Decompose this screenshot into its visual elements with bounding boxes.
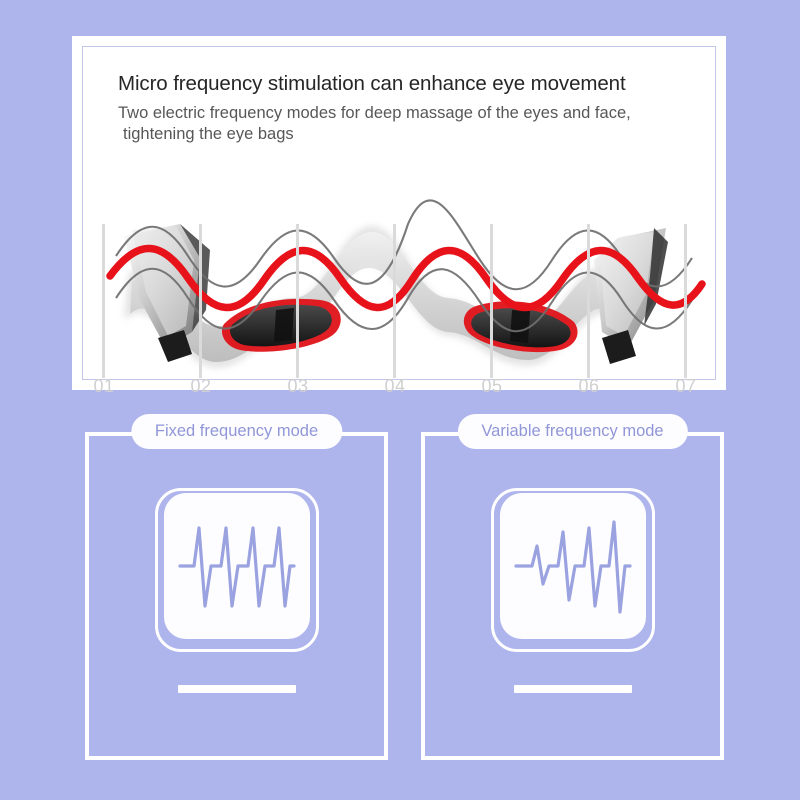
- fixed-waveform-svg: [178, 514, 296, 618]
- mode-label-variable: Variable frequency mode: [457, 414, 687, 449]
- axis-label-07: 07: [675, 376, 696, 397]
- variable-waveform-icon: [500, 493, 646, 639]
- frequency-chart: 01 02 03 04 05 06 07: [88, 180, 710, 380]
- axis-label-02: 02: [190, 376, 211, 397]
- axis-label-06: 06: [578, 376, 599, 397]
- axis-label-03: 03: [287, 376, 308, 397]
- gridline-03: [296, 224, 299, 378]
- subtitle-line-2: tightening the eye bags: [118, 124, 696, 145]
- gridline-07: [684, 224, 687, 378]
- top-info-panel: Micro frequency stimulation can enhance …: [72, 36, 726, 390]
- card-underline-fixed: [178, 685, 296, 693]
- page-subtitle: Two electric frequency modes for deep ma…: [118, 103, 696, 145]
- axis-label-05: 05: [481, 376, 502, 397]
- gridline-01: [102, 224, 105, 378]
- headline-block: Micro frequency stimulation can enhance …: [118, 72, 696, 145]
- axis-label-04: 04: [384, 376, 405, 397]
- gridline-06: [587, 224, 590, 378]
- mode-label-fixed: Fixed frequency mode: [131, 414, 342, 449]
- gridline-05: [490, 224, 493, 378]
- fixed-waveform-icon: [164, 493, 310, 639]
- page-title: Micro frequency stimulation can enhance …: [118, 72, 696, 96]
- mode-card-fixed[interactable]: Fixed frequency mode: [85, 432, 388, 760]
- variable-waveform-svg: [514, 514, 632, 618]
- chart-canvas: [88, 180, 710, 380]
- mode-card-variable[interactable]: Variable frequency mode: [421, 432, 724, 760]
- gridline-04: [393, 224, 396, 378]
- card-underline-variable: [514, 685, 632, 693]
- axis-label-01: 01: [93, 376, 114, 397]
- gridline-02: [199, 224, 202, 378]
- subtitle-line-1: Two electric frequency modes for deep ma…: [118, 104, 631, 122]
